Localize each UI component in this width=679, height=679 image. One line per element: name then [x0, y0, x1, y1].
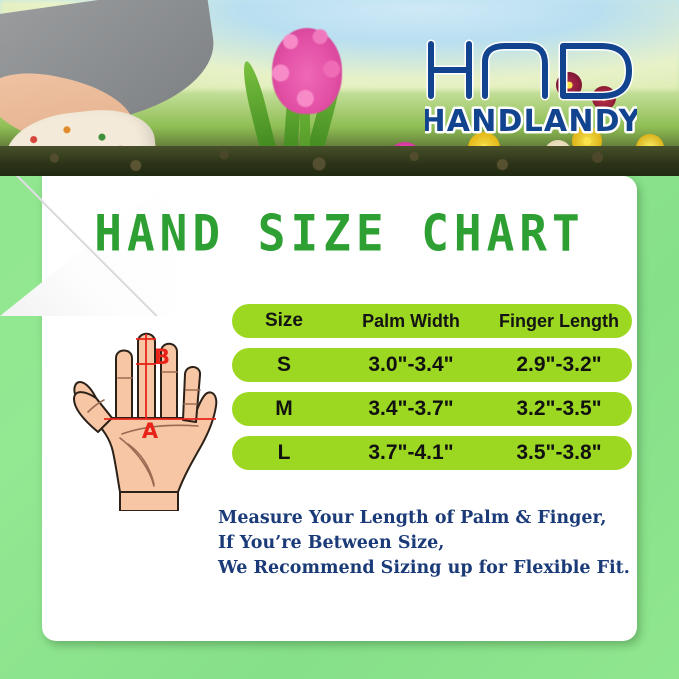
soil-strip — [0, 146, 679, 176]
hand-measurement-diagram: A B — [58, 286, 238, 511]
hand-size-chart-page: HANDLANDY HANDLANDY HAND SIZE CHART — [0, 0, 679, 679]
note-line-2: If You’re Between Size, — [218, 531, 638, 556]
table-row: S 3.0"-3.4" 2.9"-3.2" — [232, 348, 632, 382]
cell-finger-length: 3.5"-3.8" — [486, 441, 632, 465]
column-header-finger-length: Finger Length — [486, 311, 632, 332]
hand-svg: A B — [58, 286, 238, 511]
handlandy-logo[interactable]: HANDLANDY HANDLANDY — [425, 38, 637, 136]
cell-palm-width: 3.7"-4.1" — [336, 441, 486, 465]
table-row: L 3.7"-4.1" 3.5"-3.8" — [232, 436, 632, 470]
chart-card: HAND SIZE CHART — [42, 176, 637, 641]
label-b: B — [154, 345, 170, 369]
sizing-note: Measure Your Length of Palm & Finger, If… — [218, 506, 638, 581]
column-header-size: Size — [232, 310, 336, 332]
cell-palm-width: 3.0"-3.4" — [336, 353, 486, 377]
cell-palm-width: 3.4"-3.7" — [336, 397, 486, 421]
cell-finger-length: 2.9"-3.2" — [486, 353, 632, 377]
column-header-palm-width: Palm Width — [336, 311, 486, 332]
size-table: Size Palm Width Finger Length S 3.0"-3.4… — [232, 304, 632, 480]
logo-svg: HANDLANDY HANDLANDY — [425, 38, 637, 136]
cell-finger-length: 3.2"-3.5" — [486, 397, 632, 421]
note-line-1: Measure Your Length of Palm & Finger, — [218, 506, 638, 531]
label-a: A — [142, 419, 159, 443]
wordmark: HANDLANDY — [425, 104, 637, 136]
note-line-3: We Recommend Sizing up for Flexible Fit. — [218, 556, 638, 581]
table-row: M 3.4"-3.7" 3.2"-3.5" — [232, 392, 632, 426]
cell-size: S — [232, 353, 336, 377]
cell-size: M — [232, 397, 336, 421]
cell-size: L — [232, 441, 336, 465]
pink-hyacinth-flower — [272, 28, 342, 114]
table-header-row: Size Palm Width Finger Length — [232, 304, 632, 338]
page-title: HAND SIZE CHART — [42, 204, 637, 262]
